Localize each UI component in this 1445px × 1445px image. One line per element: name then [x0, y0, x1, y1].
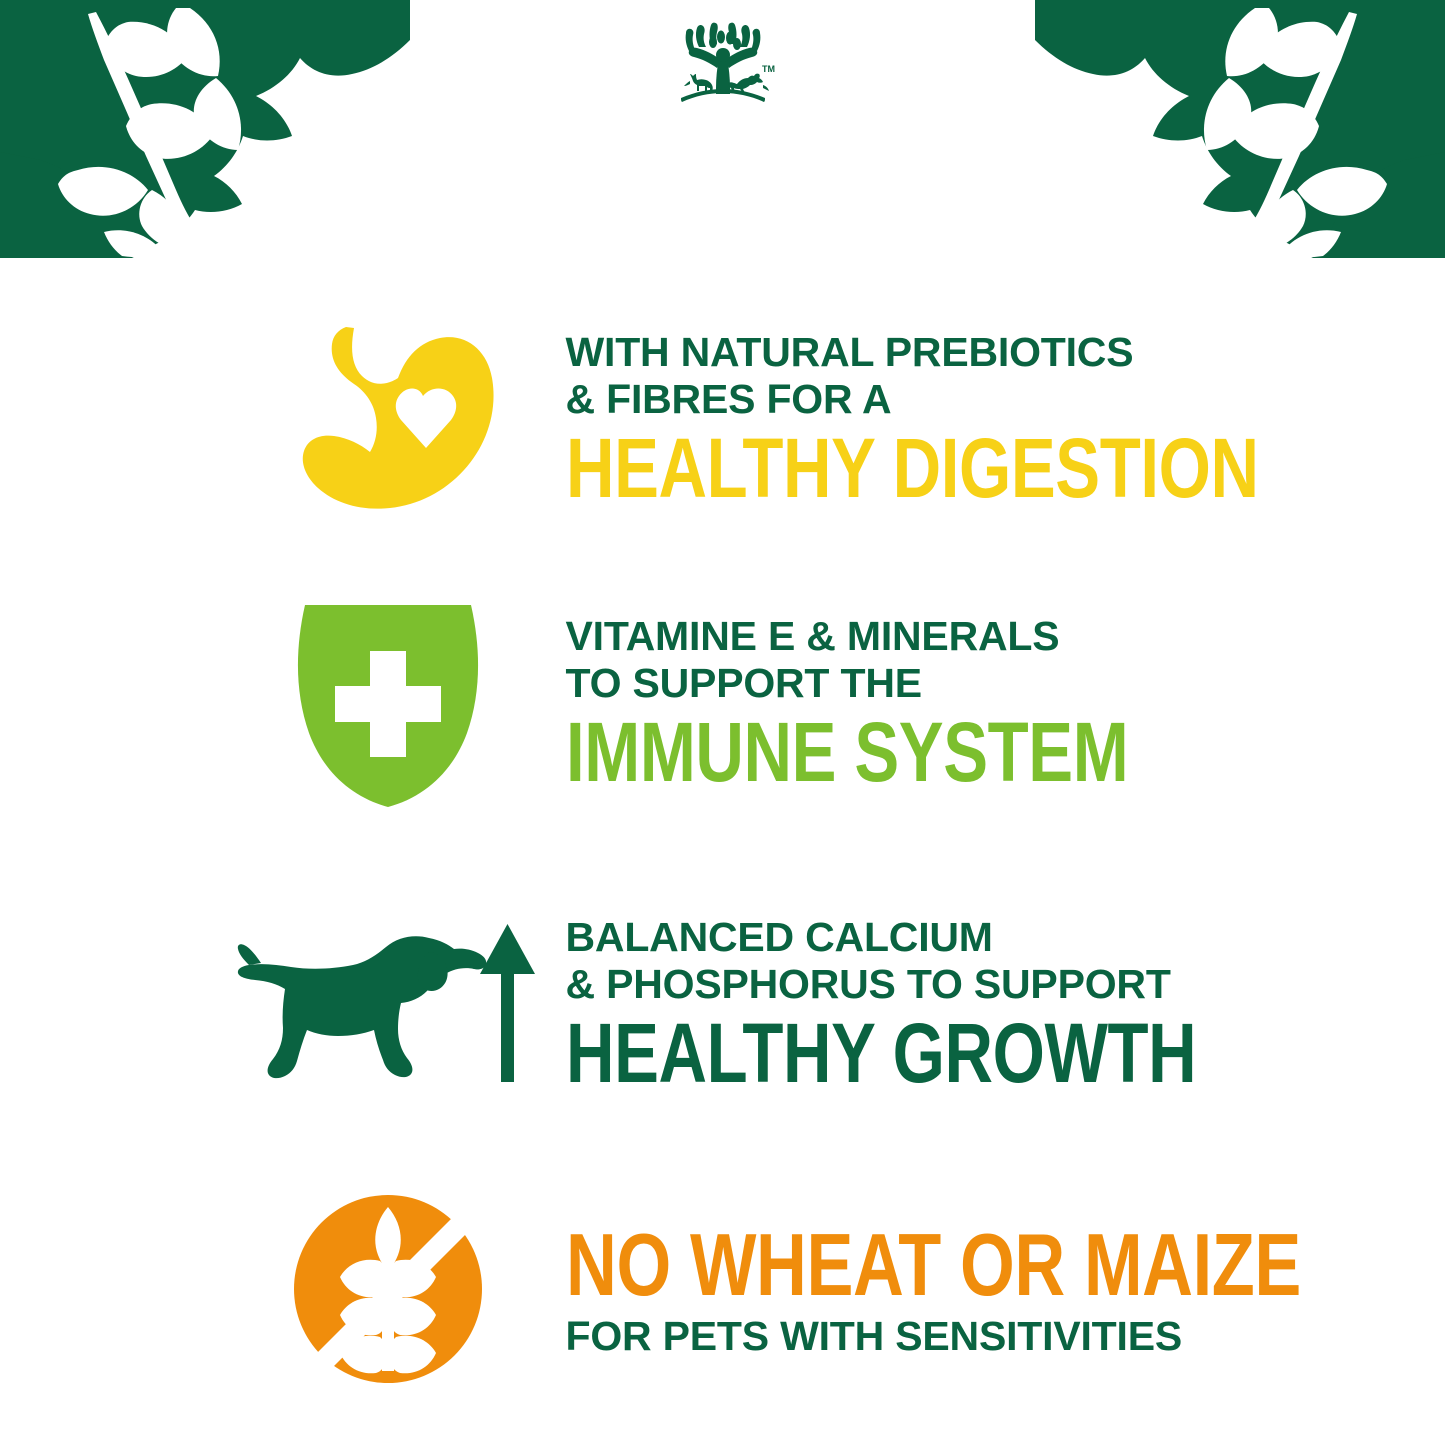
feature-headline: NO WHEAT OR MAIZE [566, 1222, 1301, 1308]
feature-row-immune-system: VITAMINE E & MINERALS TO SUPPORT THE IMM… [218, 569, 1228, 837]
trademark-symbol: TM [762, 64, 775, 74]
feature-eyebrow: BALANCED CALCIUM & PHOSPHORUS TO SUPPORT [566, 914, 1354, 1007]
feature-text-healthy-digestion: WITH NATURAL PREBIOTICS & FIBRES FOR A H… [558, 329, 1432, 509]
feature-text-no-wheat-or-maize: NO WHEAT OR MAIZE FOR PETS WITH SENSITIV… [558, 1218, 1445, 1359]
feature-headline: HEALTHY DIGESTION [566, 427, 1259, 509]
brand-logo: TM [669, 22, 777, 108]
feature-text-immune-system: VITAMINE E & MINERALS TO SUPPORT THE IMM… [558, 613, 1269, 793]
feature-eyebrow: VITAMINE E & MINERALS TO SUPPORT THE [566, 613, 1269, 706]
feature-text-healthy-growth: BALANCED CALCIUM & PHOSPHORUS TO SUPPORT… [558, 914, 1354, 1094]
feature-headline: HEALTHY GROWTH [566, 1012, 1196, 1094]
feature-subline: FOR PETS WITH SENSITIVITIES [566, 1314, 1445, 1359]
feature-eyebrow: WITH NATURAL PREBIOTICS & FIBRES FOR A [566, 329, 1432, 422]
foliage-corner-right [1035, 0, 1445, 258]
puppy-with-up-arrow-icon [218, 922, 558, 1087]
feature-list: WITH NATURAL PREBIOTICS & FIBRES FOR A H… [0, 285, 1445, 1396]
feature-row-healthy-growth: BALANCED CALCIUM & PHOSPHORUS TO SUPPORT… [218, 889, 1228, 1119]
foliage-corner-left [0, 0, 410, 258]
stomach-with-heart-icon [218, 322, 558, 517]
feature-row-no-wheat-or-maize: NO WHEAT OR MAIZE FOR PETS WITH SENSITIV… [218, 1181, 1228, 1396]
feature-headline: IMMUNE SYSTEM [566, 711, 1128, 793]
shield-with-cross-icon [218, 597, 558, 809]
feature-row-healthy-digestion: WITH NATURAL PREBIOTICS & FIBRES FOR A H… [218, 285, 1228, 553]
no-wheat-icon [218, 1195, 558, 1383]
